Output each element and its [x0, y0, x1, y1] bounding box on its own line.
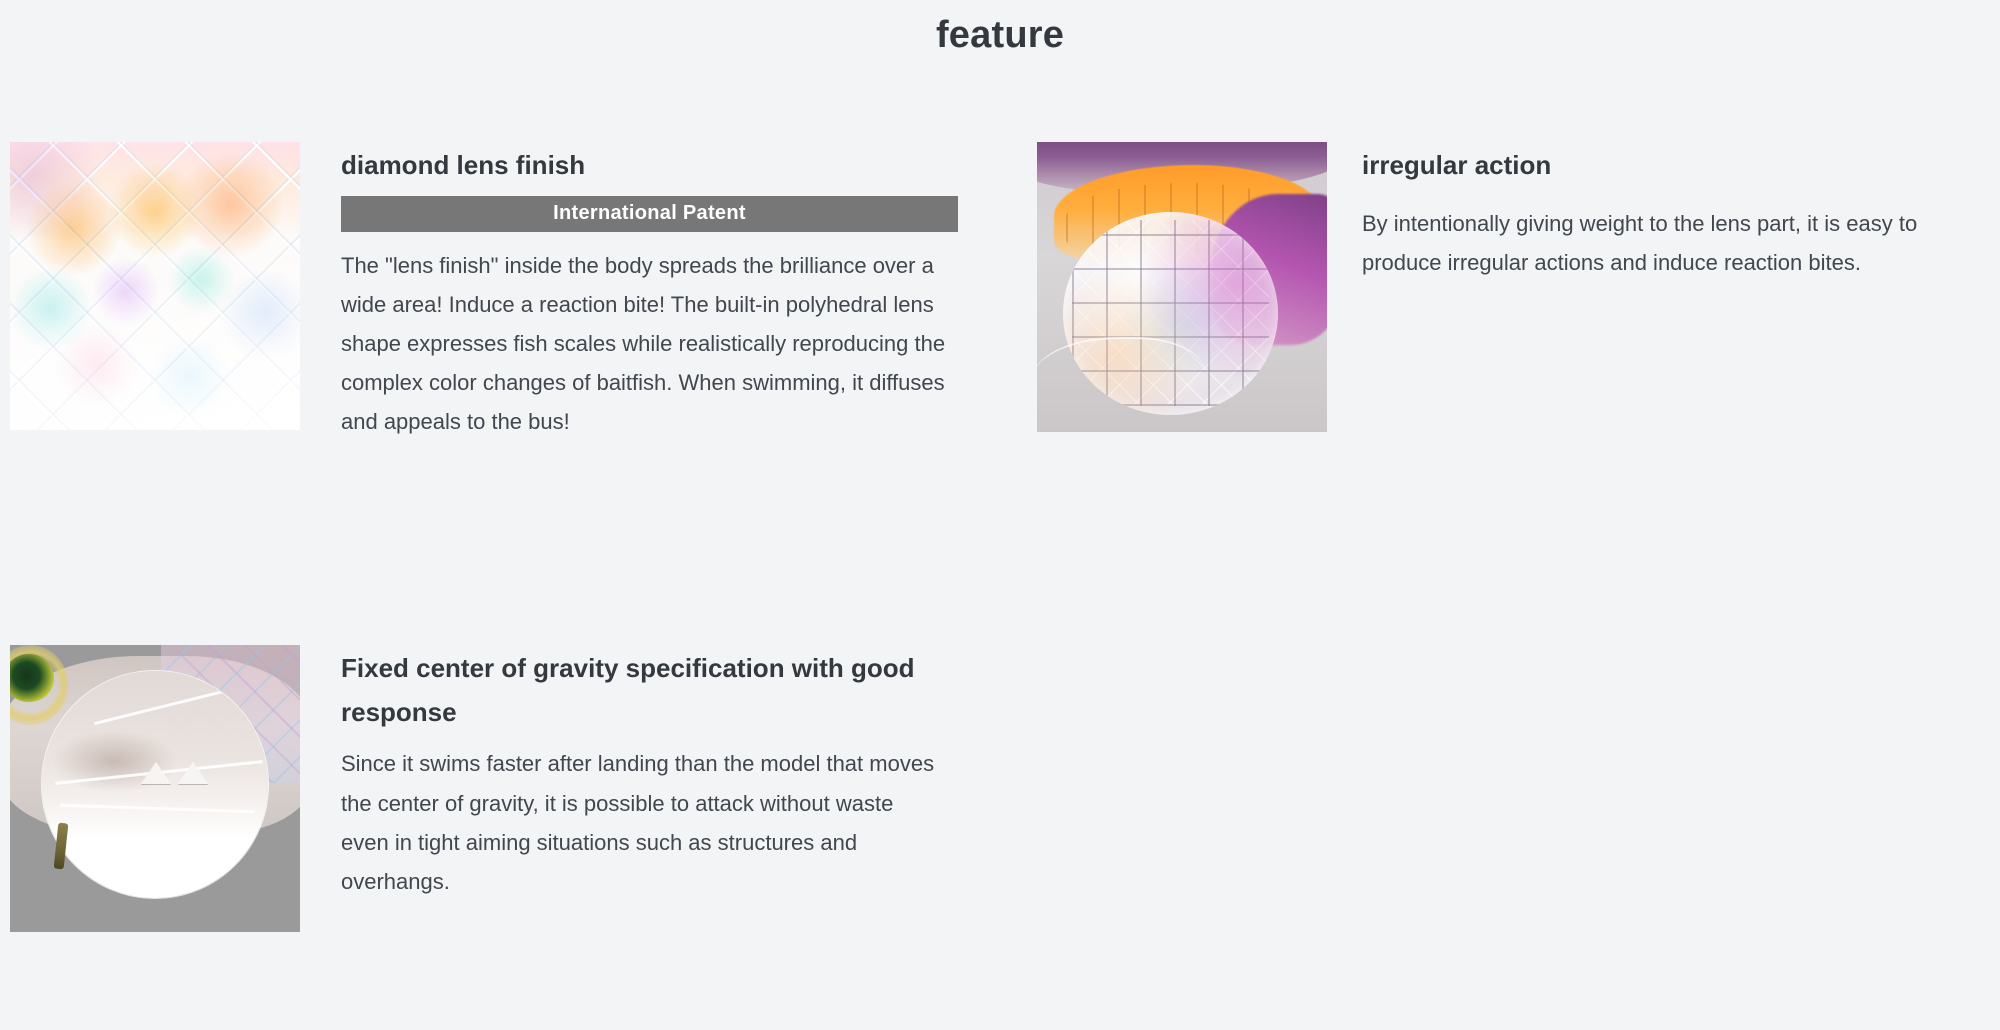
- feature-heading: irregular action: [1362, 144, 1977, 188]
- lens-triangle-facet: [141, 762, 171, 784]
- feature-heading: Fixed center of gravity specification wi…: [341, 647, 990, 734]
- magnifier-circle: [42, 671, 268, 898]
- lure-body-edge: [1037, 337, 1205, 426]
- feature-content: Fixed center of gravity specification wi…: [341, 645, 990, 901]
- lure-magnified-body-image: [10, 645, 300, 932]
- feature-block-irregular-action: irregular action By intentionally giving…: [1037, 142, 1977, 432]
- status-badge-international-patent: International Patent: [341, 196, 958, 232]
- feature-description: Since it swims faster after landing than…: [341, 744, 941, 901]
- feature-block-diamond-lens-finish: diamond lens finish International Patent…: [10, 142, 990, 441]
- page-title: feature: [0, 14, 2000, 57]
- lure-lens-disc-image: [1037, 142, 1327, 432]
- lens-sheen-overlay: [10, 142, 300, 430]
- lure-seam-line: [60, 803, 255, 813]
- feature-description: By intentionally giving weight to the le…: [1362, 204, 1977, 282]
- lure-seam-line: [94, 683, 248, 724]
- feature-content: irregular action By intentionally giving…: [1362, 142, 1977, 282]
- feature-block-fixed-center-of-gravity: Fixed center of gravity specification wi…: [10, 645, 990, 932]
- feature-description: The "lens finish" inside the body spread…: [341, 246, 981, 442]
- feature-content: diamond lens finish International Patent…: [341, 142, 990, 441]
- lens-triangle-facet: [178, 762, 208, 784]
- feature-heading: diamond lens finish: [341, 144, 990, 188]
- feature-page: feature diamond lens finish Internationa…: [0, 0, 2000, 1030]
- diamond-lens-closeup-image: [10, 142, 300, 430]
